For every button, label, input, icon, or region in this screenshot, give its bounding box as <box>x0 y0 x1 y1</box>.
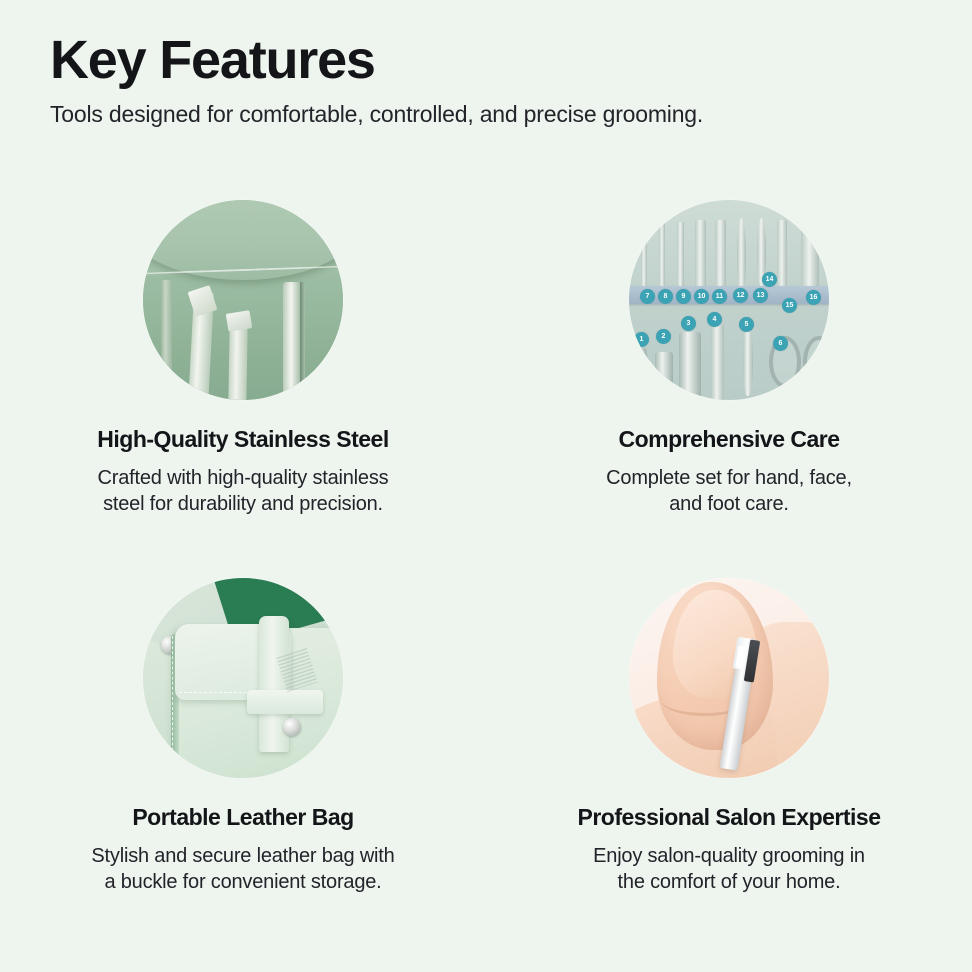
tool-number-badge-15: 15 <box>782 298 797 313</box>
feature-title: Comprehensive Care <box>618 426 839 454</box>
tool-spatula-1-icon <box>695 220 706 296</box>
feature-title: Professional Salon Expertise <box>577 804 880 832</box>
bag-edge-stitching <box>172 636 173 776</box>
bag-snap-button-bottom <box>283 718 301 736</box>
bag-illustration <box>143 578 343 778</box>
pusher-stick-icon <box>711 324 724 400</box>
feature-description: Stylish and secure leather bag with a bu… <box>91 843 394 896</box>
feature-thumbnail-wrap <box>143 200 343 400</box>
tool-number-badge-6: 6 <box>773 336 788 351</box>
nail-clipper-in-use-image <box>629 578 829 778</box>
tool-number-badge-4: 4 <box>707 312 722 327</box>
feature-card-professional-salon-expertise: Professional Salon Expertise Enjoy salon… <box>486 556 972 934</box>
tool-number-badge-8: 8 <box>658 289 673 304</box>
feature-card-high-quality-stainless-steel: High-Quality Stainless Steel Crafted wit… <box>0 178 486 556</box>
feature-thumbnail-wrap <box>629 578 829 778</box>
tool-stick-2-icon <box>659 220 665 296</box>
feature-thumbnail-wrap <box>143 578 343 778</box>
page-title: Key Features <box>50 30 930 90</box>
pusher-tool-head-icon <box>226 310 253 332</box>
cuticle-knife-icon <box>743 324 753 396</box>
feature-description: Crafted with high-quality stainless stee… <box>98 465 389 518</box>
case-stitching-line <box>143 265 343 275</box>
feature-card-comprehensive-care: 7 8 9 10 11 12 13 14 15 16 <box>486 178 972 556</box>
tool-number-badge-10: 10 <box>694 289 709 304</box>
feature-description-line-1: Complete set for hand, face, <box>606 467 852 489</box>
stainless-steel-case-image <box>143 200 343 400</box>
tool-number-badge-9: 9 <box>676 289 691 304</box>
case-flap-shape <box>143 200 343 280</box>
feature-title: High-Quality Stainless Steel <box>97 426 388 454</box>
feature-title: Portable Leather Bag <box>132 804 353 832</box>
clipper-tool-icon <box>283 282 301 400</box>
tool-number-badge-12: 12 <box>733 288 748 303</box>
feature-description-line-2: steel for durability and precision. <box>103 493 383 515</box>
tool-plate-icon <box>801 220 819 292</box>
page-subtitle: Tools designed for comfortable, controll… <box>50 100 930 130</box>
nail-illustration <box>629 578 829 778</box>
nail-file-tool-icon <box>161 280 172 400</box>
tool-number-badge-5: 5 <box>739 317 754 332</box>
feature-description-line-1: Enjoy salon-quality grooming in <box>593 845 865 867</box>
tool-number-badge-16: 16 <box>806 290 821 305</box>
feature-card-portable-leather-bag: Portable Leather Bag Stylish and secure … <box>0 556 486 934</box>
tool-stick-3-icon <box>677 222 684 296</box>
tool-number-badge-13: 13 <box>753 288 768 303</box>
feature-description-line-2: the comfort of your home. <box>618 871 841 893</box>
tool-blade-1-icon <box>737 218 746 296</box>
small-clipper-2-icon <box>655 352 673 400</box>
scissor-ring-2-icon <box>803 336 829 388</box>
feature-thumbnail-wrap: 7 8 9 10 11 12 13 14 15 16 <box>629 200 829 400</box>
key-features-page: Key Features Tools designed for comforta… <box>0 0 972 972</box>
tool-number-badge-14: 14 <box>762 272 777 287</box>
leather-bag-image <box>143 578 343 778</box>
tool-number-badge-2: 2 <box>656 329 671 344</box>
tool-number-badge-7: 7 <box>640 289 655 304</box>
large-clipper-icon <box>679 332 701 400</box>
tool-spatula-2-icon <box>715 220 726 296</box>
tool-number-badge-11: 11 <box>712 289 727 304</box>
comprehensive-tool-set-image: 7 8 9 10 11 12 13 14 15 16 <box>629 200 829 400</box>
feature-description: Complete set for hand, face, and foot ca… <box>606 465 852 518</box>
small-clipper-1-icon <box>632 347 651 400</box>
tool-number-badge-3: 3 <box>681 316 696 331</box>
clipper-tool-edge-icon <box>300 282 305 400</box>
bag-buckle-band <box>247 690 323 714</box>
feature-grid: High-Quality Stainless Steel Crafted wit… <box>0 178 972 934</box>
feature-description-line-2: and foot care. <box>669 493 789 515</box>
feature-description-line-2: a buckle for convenient storage. <box>104 871 381 893</box>
page-header: Key Features Tools designed for comforta… <box>50 30 930 130</box>
feature-description-line-1: Stylish and secure leather bag with <box>91 845 394 867</box>
feature-description: Enjoy salon-quality grooming in the comf… <box>593 843 865 896</box>
case-illustration <box>143 200 343 400</box>
tool-number-badge-1: 1 <box>634 332 649 347</box>
tool-set-illustration: 7 8 9 10 11 12 13 14 15 16 <box>629 200 829 400</box>
feature-description-line-1: Crafted with high-quality stainless <box>98 467 389 489</box>
